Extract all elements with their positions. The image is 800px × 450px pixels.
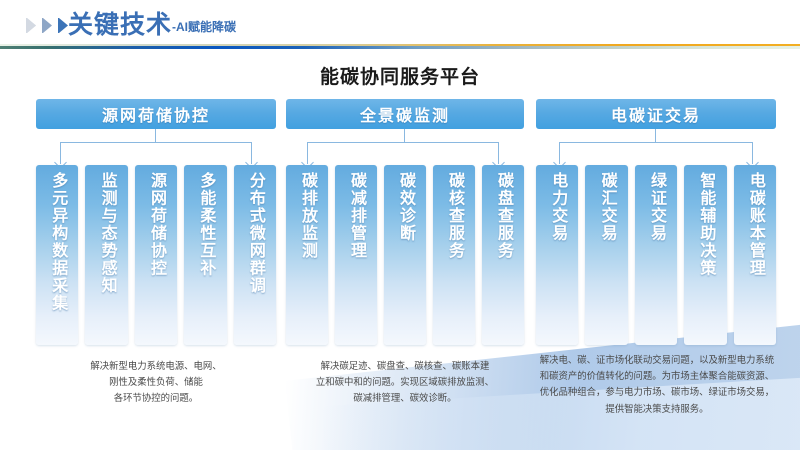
pillar-item[interactable]: 碳减排管理 xyxy=(335,165,377,345)
pillar-item[interactable]: 智能辅助决策 xyxy=(684,165,726,345)
connector-stem xyxy=(155,129,156,143)
pillar-label: 分布式微网群调 xyxy=(247,165,263,345)
connector-tree-2 xyxy=(286,129,524,165)
pillar-label: 智能辅助决策 xyxy=(697,165,713,345)
connector-tree-1 xyxy=(36,129,276,165)
description-line: 和碳资产的价值转化的问题。为市场主体聚合能碳资源、 xyxy=(518,368,796,384)
group-heading-1[interactable]: 源网荷储协控 xyxy=(36,99,276,129)
pillar-label: 源网荷储协控 xyxy=(148,165,164,345)
connector-stem xyxy=(655,129,656,143)
header-divider-main xyxy=(0,46,800,49)
description-line: 各环节协控的问题。 xyxy=(26,390,286,406)
pillar-label: 电碳账本管理 xyxy=(747,165,763,345)
pillar-label: 多元异构数据采集 xyxy=(49,165,65,345)
pillar-item[interactable]: 电碳账本管理 xyxy=(734,165,776,345)
pillar-label: 电力交易 xyxy=(549,165,565,345)
group-description-3: 解决电、碳、证市场化联动交易问题，以及新型电力系统 和碳资产的价值转化的问题。为… xyxy=(518,352,796,417)
description-line: 解决碳足迹、碳盘查、碳核查、碳账本建 xyxy=(278,358,532,374)
pillar-list-1: 多元异构数据采集 监测与态势感知 源网荷储协控 多能柔性互补 分布式微网群调 xyxy=(36,165,276,345)
pillar-label: 碳汇交易 xyxy=(599,165,615,345)
chevron-2-icon xyxy=(42,17,57,34)
pillar-item[interactable]: 碳排放监测 xyxy=(286,165,328,345)
pillar-item[interactable]: 绿证交易 xyxy=(635,165,677,345)
chevron-1-icon xyxy=(26,17,41,34)
group-description-1: 解决新型电力系统电源、电网、 刚性及柔性负荷、储能 各环节协控的问题。 xyxy=(26,358,286,407)
pillar-item[interactable]: 多元异构数据采集 xyxy=(36,165,78,345)
slide-header: 关键技术-AI赋能降碳 xyxy=(0,0,800,50)
description-line: 优化品种组合，参与电力市场、碳市场、绿证市场交易， xyxy=(518,384,796,400)
description-line: 解决电、碳、证市场化联动交易问题，以及新型电力系统 xyxy=(518,352,796,368)
group-source-grid-load-storage: 源网荷储协控 多元异构数据采集 监测与态势感知 源网荷储协控 多能柔性互补 分布 xyxy=(36,99,276,129)
pillar-label: 碳盘查服务 xyxy=(495,165,511,345)
group-panoramic-carbon-monitoring: 全景碳监测 碳排放监测 碳减排管理 碳效诊断 碳核查服务 碳盘查服务 xyxy=(286,99,524,129)
header-title: 关键技术-AI赋能降碳 xyxy=(68,10,236,42)
pillar-label: 碳排放监测 xyxy=(299,165,315,345)
pillar-item[interactable]: 碳盘查服务 xyxy=(482,165,524,345)
pillar-label: 碳核查服务 xyxy=(446,165,462,345)
pillar-item[interactable]: 碳效诊断 xyxy=(384,165,426,345)
pillar-item[interactable]: 监测与态势感知 xyxy=(85,165,127,345)
pillar-item[interactable]: 电力交易 xyxy=(536,165,578,345)
group-power-carbon-certificate-trading: 电碳证交易 电力交易 碳汇交易 绿证交易 智能辅助决策 电碳账本管理 xyxy=(536,99,776,129)
slide-canvas: 关键技术-AI赋能降碳 能碳协同服务平台 源网荷储协控 多元异构数据采集 监测与… xyxy=(0,0,800,450)
connector-bus xyxy=(60,142,252,143)
description-line: 碳减排管理、碳效诊断。 xyxy=(278,390,532,406)
pillar-label: 监测与态势感知 xyxy=(99,165,115,345)
pillar-item[interactable]: 碳汇交易 xyxy=(585,165,627,345)
description-line: 立和碳中和的问题。实现区域碳排放监测、 xyxy=(278,374,532,390)
pillar-item[interactable]: 分布式微网群调 xyxy=(234,165,276,345)
pillar-list-2: 碳排放监测 碳减排管理 碳效诊断 碳核查服务 碳盘查服务 xyxy=(286,165,524,345)
connector-bus xyxy=(307,142,499,143)
pillar-item[interactable]: 源网荷储协控 xyxy=(135,165,177,345)
group-heading-3[interactable]: 电碳证交易 xyxy=(536,99,776,129)
pillar-label: 碳效诊断 xyxy=(397,165,413,345)
group-description-2: 解决碳足迹、碳盘查、碳核查、碳账本建 立和碳中和的问题。实现区域碳排放监测、 碳… xyxy=(278,358,532,407)
pillar-label: 碳减排管理 xyxy=(348,165,364,345)
pillar-item[interactable]: 碳核查服务 xyxy=(433,165,475,345)
description-line: 刚性及柔性负荷、储能 xyxy=(26,374,286,390)
pillar-label: 多能柔性互补 xyxy=(197,165,213,345)
pillar-list-3: 电力交易 碳汇交易 绿证交易 智能辅助决策 电碳账本管理 xyxy=(536,165,776,345)
description-line: 提供智能决策支持服务。 xyxy=(518,401,796,417)
description-line: 解决新型电力系统电源、电网、 xyxy=(26,358,286,374)
header-title-text: 关键技术 xyxy=(68,11,172,39)
pillar-label: 绿证交易 xyxy=(648,165,664,345)
connector-stem xyxy=(404,129,405,143)
header-subtitle: -AI赋能降碳 xyxy=(172,20,236,34)
double-chevron-right-icon xyxy=(26,17,73,34)
group-heading-2[interactable]: 全景碳监测 xyxy=(286,99,524,129)
connector-tree-3 xyxy=(536,129,776,165)
connector-bus xyxy=(559,142,753,143)
pillar-item[interactable]: 多能柔性互补 xyxy=(184,165,226,345)
page-title: 能碳协同服务平台 xyxy=(0,62,800,89)
